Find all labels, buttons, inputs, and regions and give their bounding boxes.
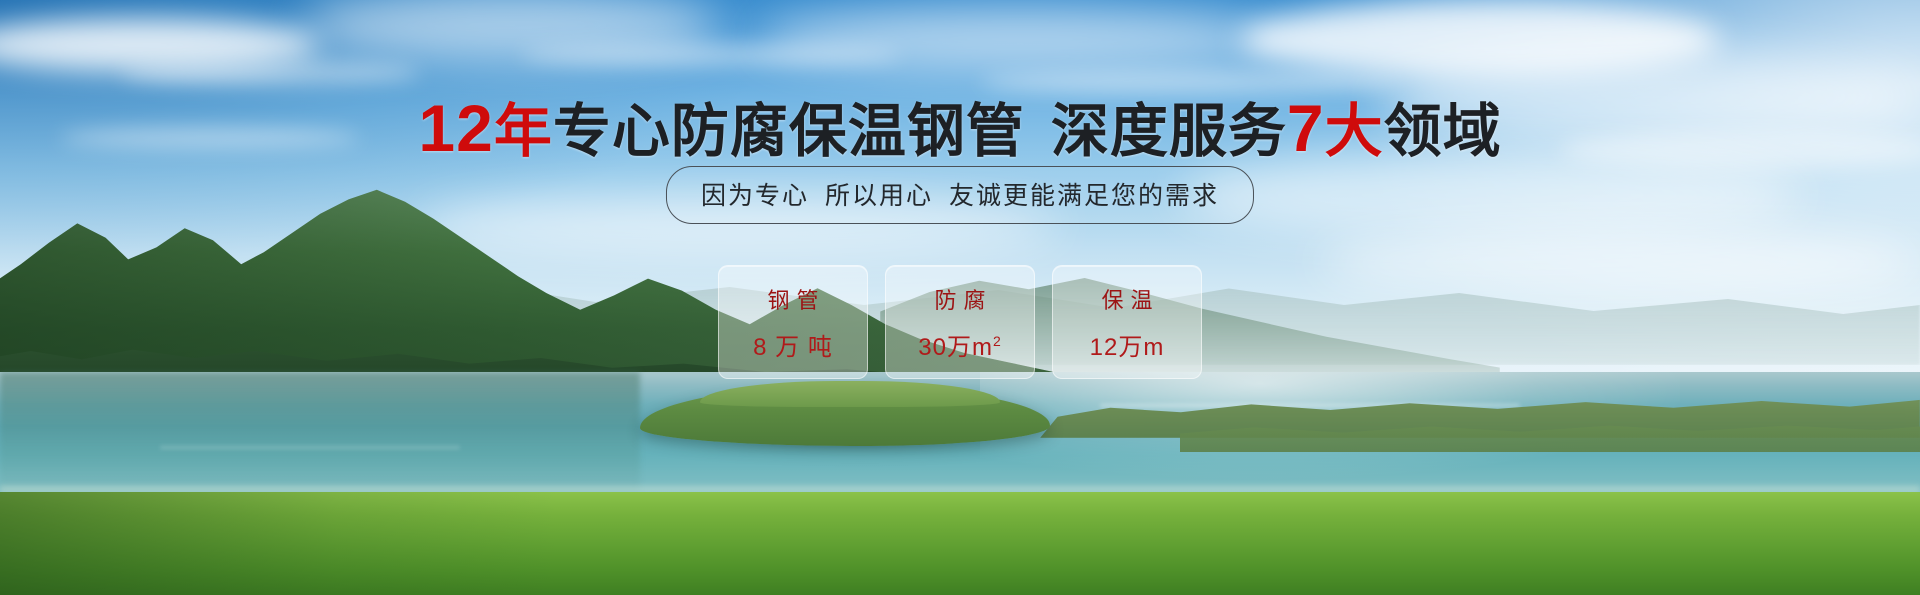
stat-card-insulation: 保温 12万m — [1052, 265, 1202, 379]
stat-card-value-base: 30万m — [918, 334, 993, 361]
stat-card-title: 钢管 — [760, 283, 825, 315]
stat-card-title: 保温 — [1094, 283, 1159, 315]
cloud-icon — [1320, 228, 1920, 298]
headline-years-number: 12 — [418, 91, 493, 165]
stat-card-value-base: 12万m — [1090, 334, 1165, 361]
subtitle-part-1: 因为专心 — [701, 182, 809, 210]
stat-card-list: 钢管 8 万 吨 防腐 30万m2 保温 12万m — [718, 265, 1202, 379]
water-streak — [160, 446, 460, 449]
stat-card-value: 12万m — [1090, 327, 1165, 362]
cloud-icon — [760, 8, 1280, 70]
headline-segment-1: 专心防腐保温钢管 — [553, 99, 1025, 164]
headline-segment-2: 深度服务 — [1051, 99, 1287, 164]
stat-card-steel-pipe: 钢管 8 万 吨 — [718, 265, 868, 379]
promo-banner: 12年专心防腐保温钢管深度服务7大领域 因为专心所以用心友诚更能满足您的需求 钢… — [0, 0, 1920, 595]
stat-card-value: 30万m2 — [918, 327, 1001, 362]
page-title: 12年专心防腐保温钢管深度服务7大领域 — [0, 84, 1920, 168]
subtitle-pill: 因为专心所以用心友诚更能满足您的需求 — [666, 166, 1254, 224]
stat-card-anticorrosion: 防腐 30万m2 — [885, 265, 1035, 379]
stat-card-value-superscript: 2 — [993, 333, 1002, 349]
meadow-shading — [0, 492, 560, 595]
cloud-icon — [120, 60, 420, 86]
headline-fields-unit: 大 — [1325, 99, 1384, 164]
stat-card-value-base: 8 万 吨 — [753, 334, 833, 361]
subtitle-part-3: 友诚更能满足您的需求 — [949, 182, 1219, 210]
headline-fields-number: 7 — [1287, 91, 1325, 165]
stat-card-value: 8 万 吨 — [753, 327, 833, 362]
headline-years-unit: 年 — [494, 99, 553, 164]
headline-segment-3: 领域 — [1384, 99, 1502, 164]
subtitle-part-2: 所以用心 — [825, 182, 933, 210]
stat-card-title: 防腐 — [927, 283, 992, 315]
